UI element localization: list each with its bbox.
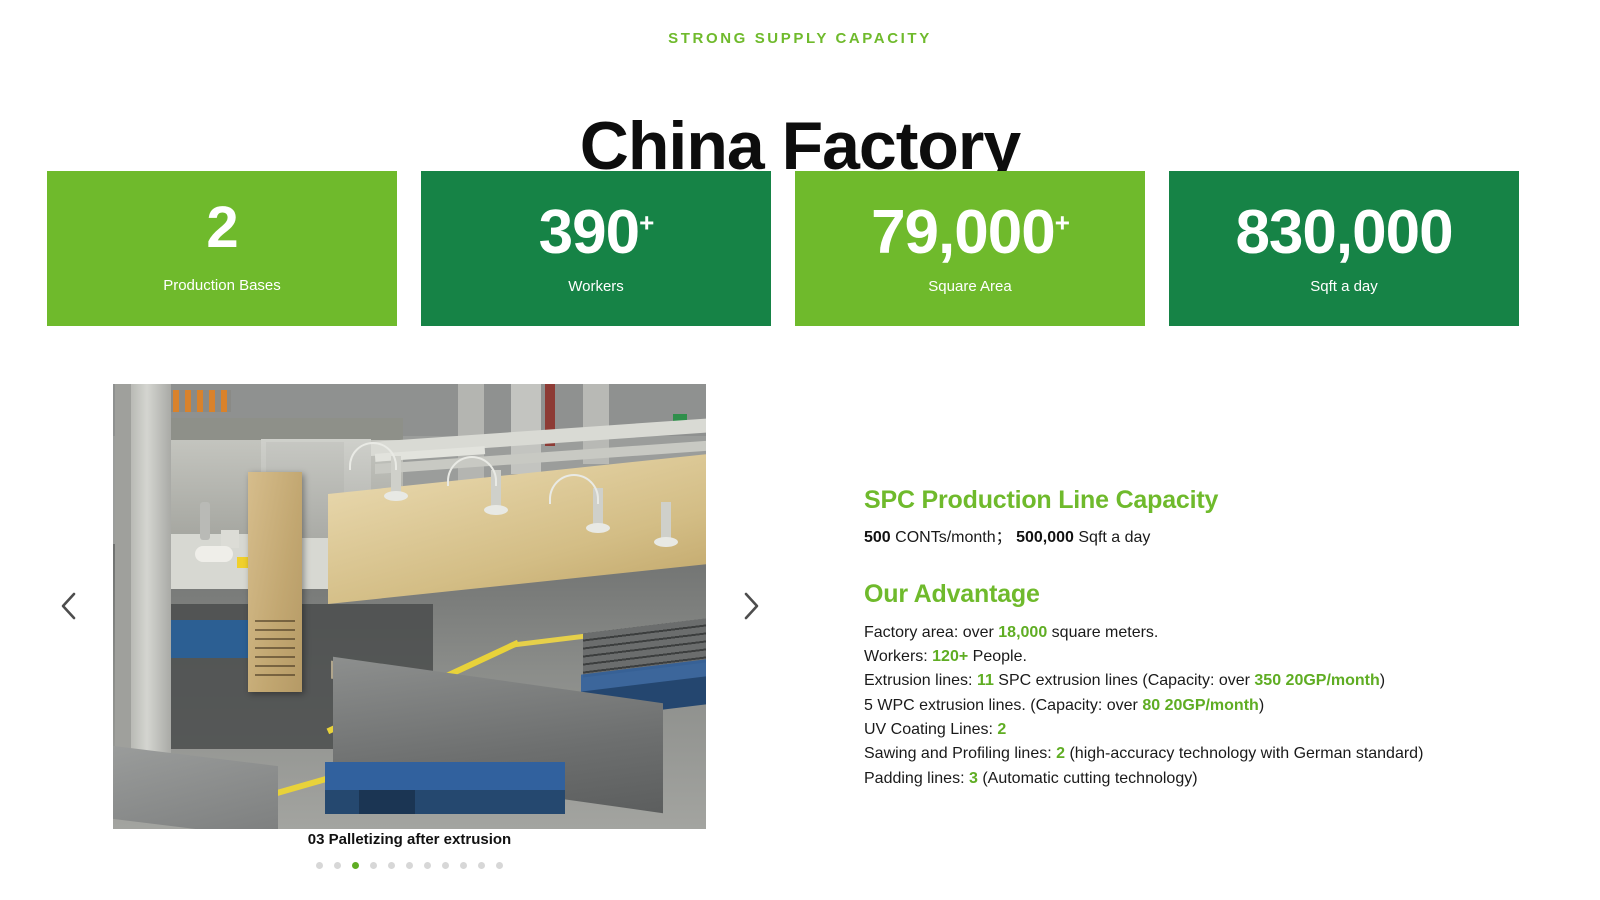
stat-label: Workers: [568, 278, 624, 295]
stat-value: 830,000: [1235, 202, 1452, 264]
stat-card-workers: 390+ Workers: [421, 171, 771, 326]
carousel-caption: 03 Palletizing after extrusion: [113, 831, 706, 848]
advantage-item: Extrusion lines: 11 SPC extrusion lines …: [864, 669, 1504, 693]
carousel-dot[interactable]: [478, 862, 485, 869]
stat-card-square-area: 79,000+ Square Area: [795, 171, 1145, 326]
advantage-text: Sawing and Profiling lines:: [864, 745, 1056, 762]
advantage-text: People.: [968, 648, 1027, 665]
carousel-dot[interactable]: [406, 862, 413, 869]
advantage-text: (high-accuracy technology with German st…: [1065, 745, 1423, 762]
capacity-line: 500 CONTs/month； 500,000 Sqft a day: [864, 528, 1504, 549]
advantage-item: Sawing and Profiling lines: 2 (high-accu…: [864, 742, 1504, 766]
carousel-dot[interactable]: [370, 862, 377, 869]
chevron-right-icon: [741, 590, 761, 622]
capacity-sqft-value: 500,000: [1016, 529, 1074, 546]
carousel-dot[interactable]: [424, 862, 431, 869]
carousel-prev-button[interactable]: [47, 584, 91, 628]
section-eyebrow: STRONG SUPPLY CAPACITY: [0, 30, 1600, 47]
stat-card-sqft-a-day: 830,000 Sqft a day: [1169, 171, 1519, 326]
carousel-image[interactable]: [113, 384, 706, 829]
capacity-title: SPC Production Line Capacity: [864, 485, 1504, 515]
stat-value: 390+: [539, 202, 654, 264]
advantage-text: Padding lines:: [864, 770, 969, 787]
advantage-text: square meters.: [1047, 624, 1158, 641]
advantage-item: Padding lines: 3 (Automatic cutting tech…: [864, 767, 1504, 791]
carousel-next-button[interactable]: [729, 584, 773, 628]
capacity-conts-unit: CONTs/month；: [891, 529, 1016, 546]
advantage-highlight: 3: [969, 770, 978, 787]
carousel-dot[interactable]: [460, 862, 467, 869]
stat-label: Square Area: [928, 278, 1011, 295]
advantage-text: UV Coating Lines:: [864, 721, 997, 738]
advantage-highlight: 120+: [932, 648, 968, 665]
stat-label: Production Bases: [163, 277, 281, 294]
stat-value: 2: [206, 199, 237, 257]
stat-label: Sqft a day: [1310, 278, 1378, 295]
carousel-dot[interactable]: [442, 862, 449, 869]
carousel-dot[interactable]: [352, 862, 359, 869]
advantage-item: 5 WPC extrusion lines. (Capacity: over 8…: [864, 694, 1504, 718]
advantage-title: Our Advantage: [864, 579, 1504, 609]
advantage-text: Workers:: [864, 648, 932, 665]
advantage-text: ): [1259, 697, 1264, 714]
advantage-highlight: 11: [977, 672, 994, 689]
advantage-text: (Automatic cutting technology): [978, 770, 1198, 787]
stat-card-production-bases: 2 Production Bases: [47, 171, 397, 326]
capacity-conts-value: 500: [864, 529, 891, 546]
advantage-highlight: 350 20GP/month: [1254, 672, 1379, 689]
stat-suffix: +: [639, 207, 653, 237]
carousel-dots[interactable]: [113, 862, 706, 869]
advantage-item: Workers: 120+ People.: [864, 645, 1504, 669]
advantage-text: Extrusion lines:: [864, 672, 977, 689]
advantage-highlight: 18,000: [998, 624, 1047, 641]
carousel-dot[interactable]: [496, 862, 503, 869]
advantage-highlight: 80 20GP/month: [1142, 697, 1258, 714]
advantage-highlight: 2: [997, 721, 1006, 738]
advantage-item: Factory area: over 18,000 square meters.: [864, 621, 1504, 645]
carousel-dot[interactable]: [316, 862, 323, 869]
advantage-item: UV Coating Lines: 2: [864, 718, 1504, 742]
stat-suffix: +: [1055, 207, 1069, 237]
advantage-text: ): [1380, 672, 1385, 689]
page-root: STRONG SUPPLY CAPACITY China Factory 2 P…: [0, 0, 1600, 900]
advantage-text: 5 WPC extrusion lines. (Capacity: over: [864, 697, 1142, 714]
advantage-text: SPC extrusion lines (Capacity: over: [994, 672, 1255, 689]
advantage-list: Factory area: over 18,000 square meters.…: [864, 621, 1504, 791]
carousel-dot[interactable]: [334, 862, 341, 869]
advantage-highlight: 2: [1056, 745, 1065, 762]
image-carousel: 03 Palletizing after extrusion: [47, 384, 807, 884]
stats-row: 2 Production Bases 390+ Workers 79,000+ …: [47, 171, 1519, 326]
advantage-text: Factory area: over: [864, 624, 998, 641]
chevron-left-icon: [59, 590, 79, 622]
capacity-sqft-unit: Sqft a day: [1074, 529, 1151, 546]
info-column: SPC Production Line Capacity 500 CONTs/m…: [864, 485, 1504, 791]
carousel-dot[interactable]: [388, 862, 395, 869]
stat-value: 79,000+: [871, 202, 1069, 264]
